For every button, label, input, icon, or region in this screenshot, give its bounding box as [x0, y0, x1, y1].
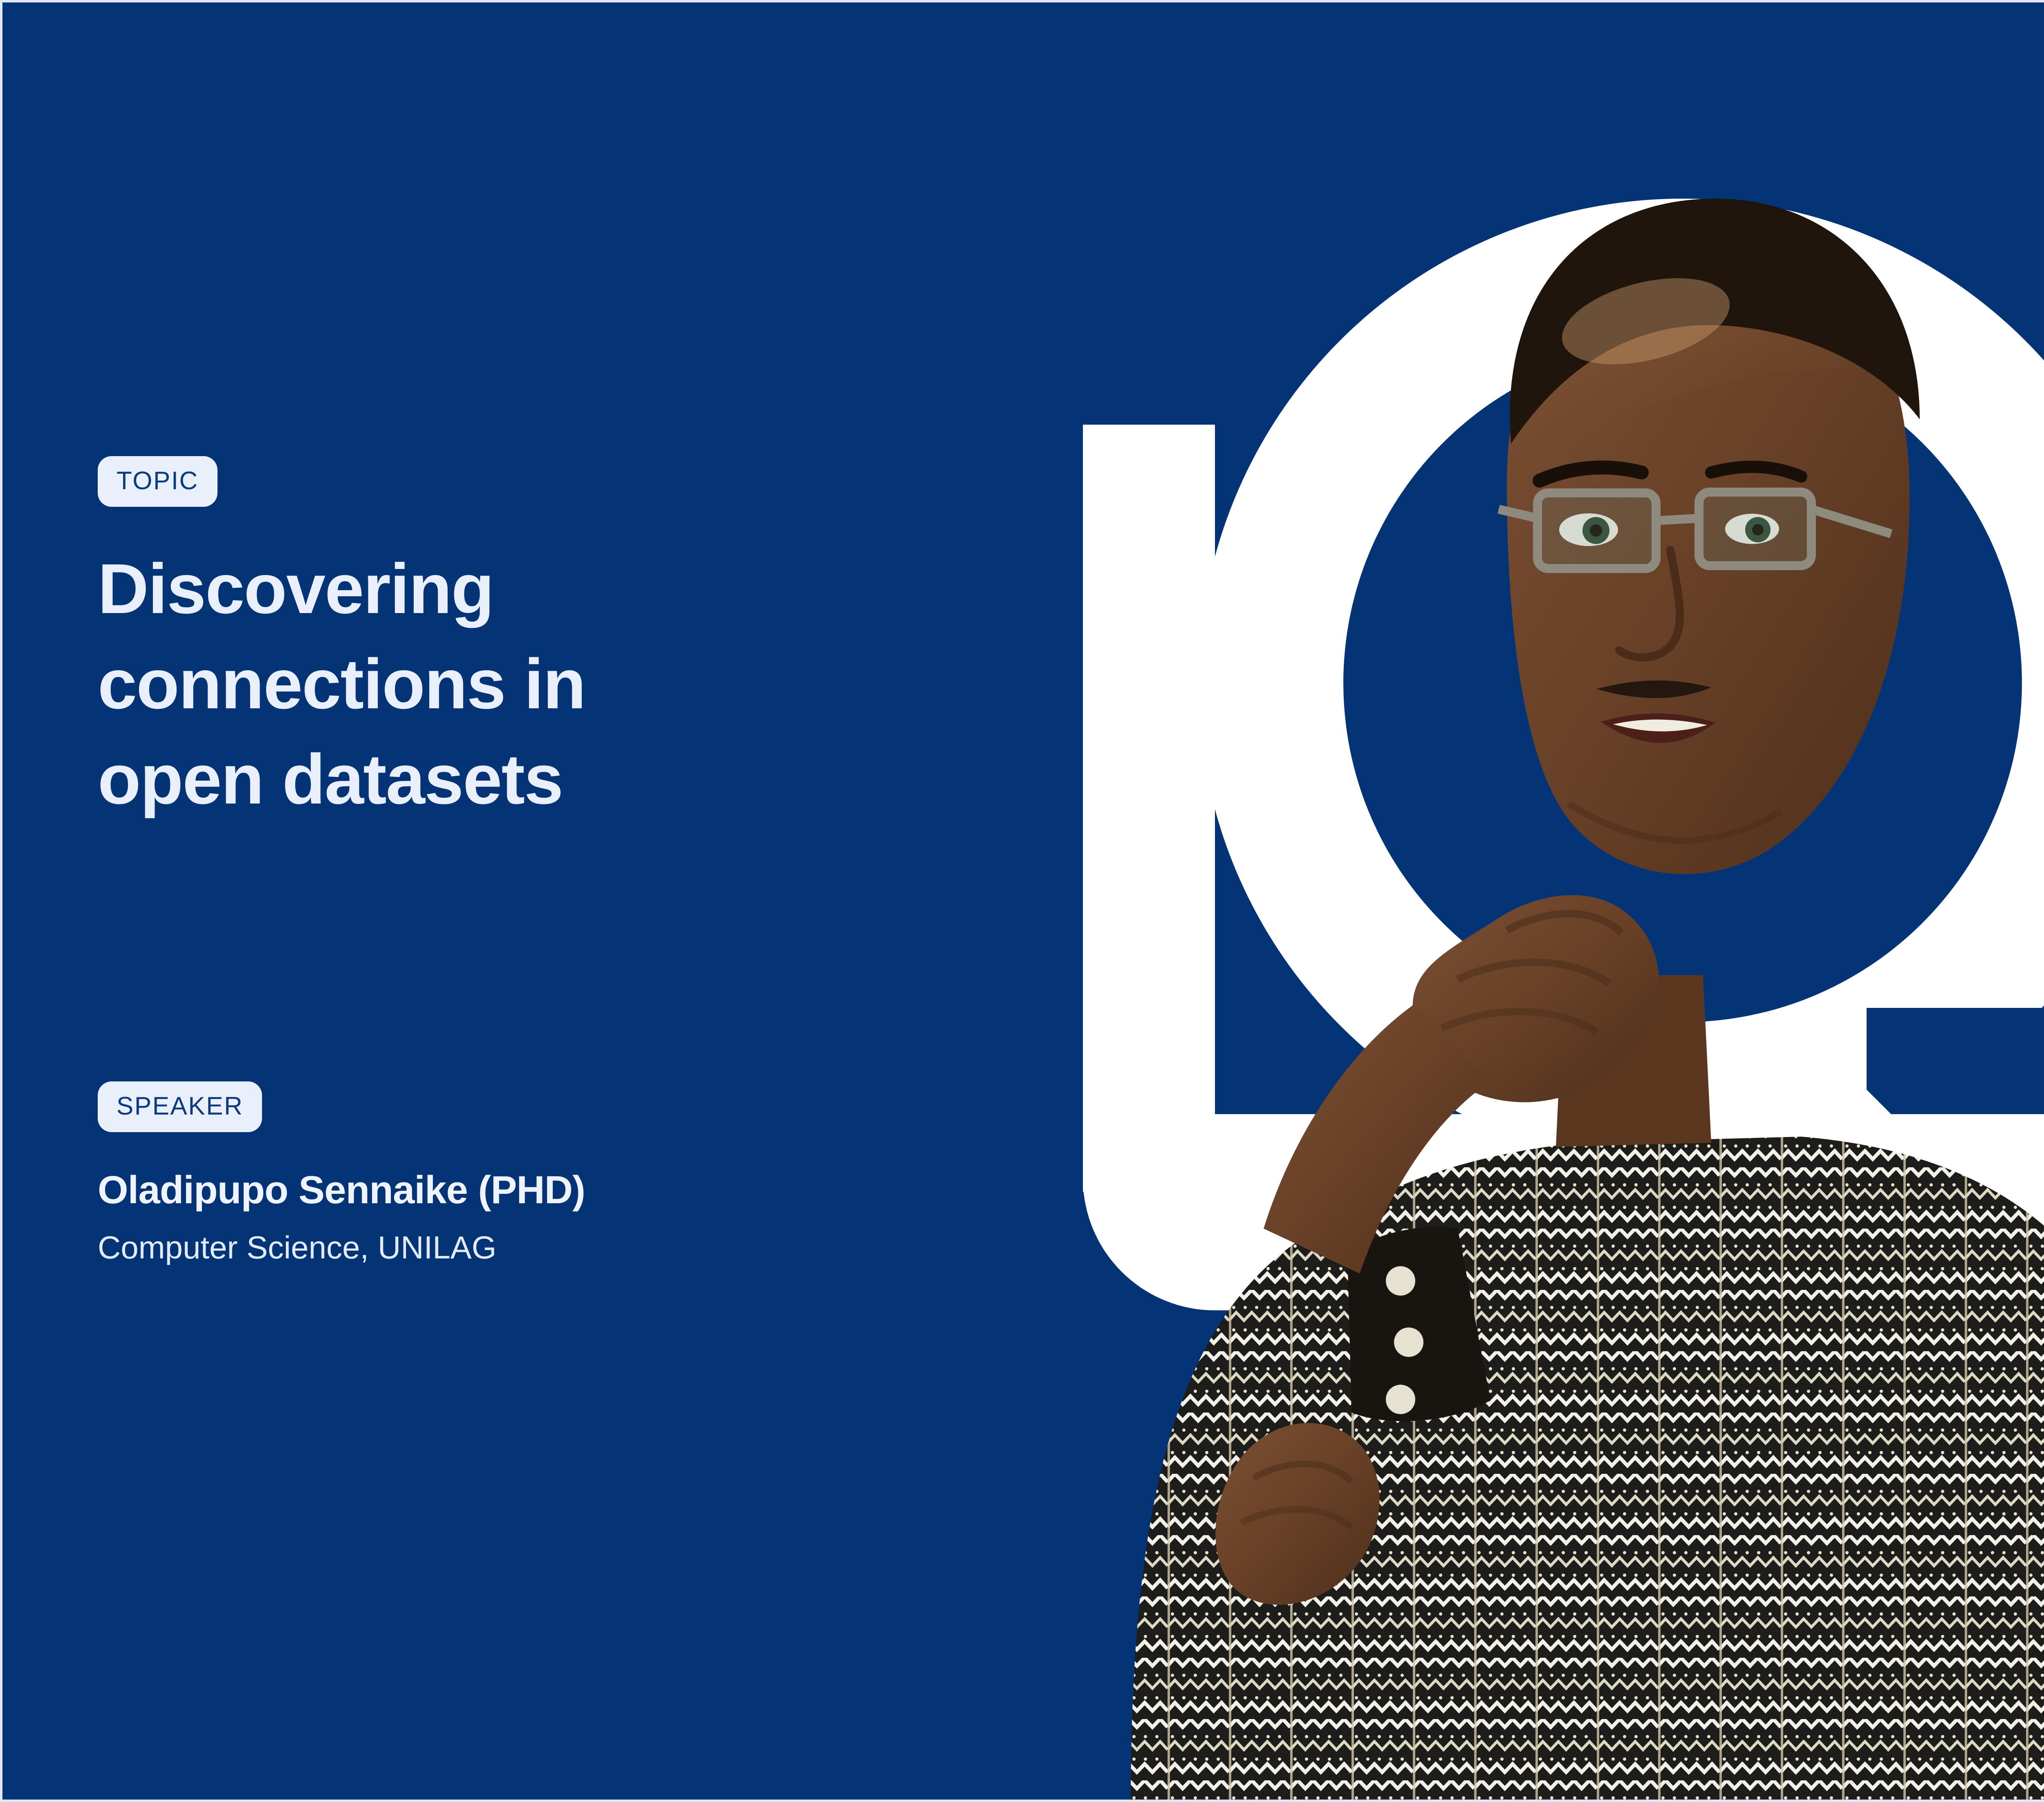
speaker-affiliation: Computer Science, UNILAG	[98, 1229, 496, 1266]
page-title: Discovering connections in open datasets	[98, 541, 735, 827]
speaker-badge: SPEAKER	[98, 1081, 262, 1132]
title-line-1: Discovering	[98, 549, 493, 628]
speaker-name: Oladipupo Sennaike (PHD)	[98, 1170, 585, 1211]
content-column: TOPIC Discovering connections in open da…	[98, 2, 997, 1800]
speaker-announcement-card: TOPIC Discovering connections in open da…	[0, 0, 2044, 1802]
topic-badge: TOPIC	[98, 456, 217, 507]
title-line-3: open datasets	[98, 739, 563, 819]
title-line-2: connections in	[98, 644, 585, 723]
